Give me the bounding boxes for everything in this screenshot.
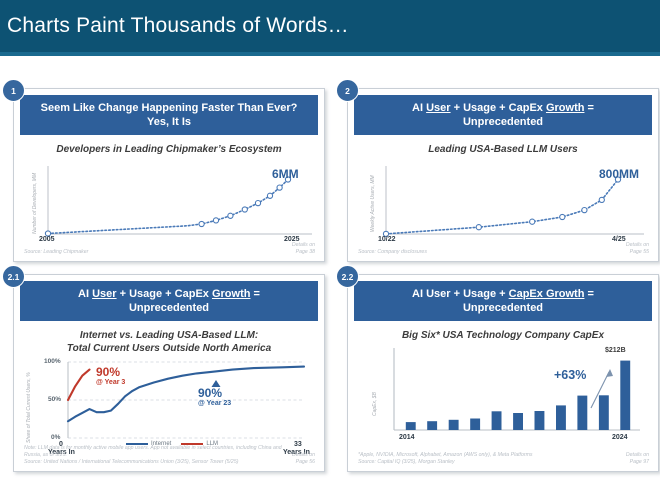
x-tick-end-2-1: 33: [294, 441, 302, 448]
x-tick-end-2: 4/25: [612, 236, 626, 243]
card-source-2: Source: Company disclosures: [358, 249, 427, 256]
chart-area-2: Weekly Active Users, MM 10/22 4/25 800MM: [356, 158, 650, 250]
x-tick-start-2: 10/22: [378, 236, 396, 243]
slide-card-2-2[interactable]: 2.2 AI User + Usage + CapEx Growth =Unpr…: [347, 274, 659, 472]
bar: [513, 413, 523, 430]
chart-area-2-2: CapEx, $B +63% $212B 2014 2024: [356, 344, 650, 452]
y-tick-50-2-1: 50%: [48, 396, 61, 403]
card-badge-2-1: 2.1: [2, 265, 25, 288]
card-source-1: Source: Leading Chipmaker: [24, 249, 88, 256]
bar: [492, 411, 502, 430]
banner-underline: [0, 52, 660, 56]
y-axis-label-2-1: Share of Total Current Users, %: [26, 372, 32, 443]
y-tick-100-2-1: 100%: [44, 358, 61, 365]
y-tick-0-2-1: 0%: [51, 434, 60, 441]
annotation-blue-2-1: 90% @ Year 23: [198, 386, 231, 407]
card-headline-2-1: AI User + Usage + CapEx Growth =Unpreced…: [20, 281, 318, 321]
card-page-note-2-2: Details onPage 97: [626, 452, 649, 466]
bar: [535, 411, 545, 430]
data-point: [242, 207, 247, 212]
card-badge-2-2: 2.2: [336, 265, 359, 288]
data-point: [267, 193, 272, 198]
bar: [449, 420, 459, 430]
data-point: [277, 185, 282, 190]
bar: [470, 419, 480, 431]
annotation-red-2-1: 90% @ Year 3: [96, 365, 125, 386]
data-point: [582, 208, 587, 213]
y-axis-label-2: Weekly Active Users, MM: [370, 175, 376, 232]
x-tick-start-1: 2005: [39, 236, 55, 243]
chart-area-1: Number of Developers, MM 2005 2025 6MM: [22, 158, 316, 250]
card-headline-2-2: AI User + Usage + CapEx Growth =Unpreced…: [354, 281, 652, 321]
data-point: [213, 218, 218, 223]
page-title: Charts Paint Thousands of Words…: [0, 14, 349, 38]
data-point: [599, 197, 604, 202]
callout-value-2: 800MM: [599, 167, 639, 181]
chart-area-2-1: Share of Total Current Users, % 100% 50%…: [22, 357, 316, 457]
card-footnote-2-2: *Apple, NVIDIA, Microsoft, Alphabet, Ama…: [358, 452, 533, 466]
chart-subtitle-2-1: Internet vs. Leading USA-Based LLM:Total…: [14, 329, 324, 355]
card-source-2-2: Source: Capital IQ (3/25), Morgan Stanle…: [358, 459, 533, 466]
data-point: [199, 221, 204, 226]
card-footnote-2-1: Note: LLM data is for monthly active mob…: [24, 445, 282, 466]
bar: [620, 361, 630, 430]
y-axis-label-2-2: CapEx, $B: [372, 392, 378, 416]
annotation-value-2-2: $212B: [605, 347, 626, 354]
page-header-banner: Charts Paint Thousands of Words…: [0, 0, 660, 52]
card-source-2-1: Source: United Nations / International T…: [24, 459, 282, 466]
data-point: [530, 219, 535, 224]
annotation-red-value: 90%: [96, 365, 125, 379]
card-badge-1: 1: [2, 79, 25, 102]
x-tick-end-2-2: 2024: [612, 434, 628, 441]
chart-subtitle-1: Developers in Leading Chipmaker’s Ecosys…: [14, 143, 324, 156]
card-note-2-2: *Apple, NVIDIA, Microsoft, Alphabet, Ama…: [358, 452, 533, 459]
card-page-note-1: Details onPage 38: [292, 242, 315, 256]
annotation-blue-value: 90%: [198, 386, 231, 400]
annotation-growth-2-2: +63%: [554, 368, 586, 382]
card-badge-2: 2: [336, 79, 359, 102]
slide-card-1[interactable]: 1 Seem Like Change Happening Faster Than…: [13, 88, 325, 262]
data-point: [228, 213, 233, 218]
card-note-2-1: Note: LLM data is for monthly active mob…: [24, 445, 282, 459]
card-headline-1: Seem Like Change Happening Faster Than E…: [20, 95, 318, 135]
data-point: [255, 201, 260, 206]
bar: [406, 422, 416, 430]
data-point: [560, 214, 565, 219]
bar: [427, 421, 437, 430]
annotation-blue-note: @ Year 23: [198, 400, 231, 407]
slide-card-2-1[interactable]: 2.1 AI User + Usage + CapEx Growth =Unpr…: [13, 274, 325, 472]
x-tick-end-value-2-1: 33: [294, 441, 302, 448]
callout-value-1: 6MM: [272, 167, 299, 181]
bar: [599, 395, 609, 430]
chart-subtitle-2-2: Big Six* USA Technology Company CapEx: [348, 329, 658, 342]
card-page-note-2: Details onPage 55: [626, 242, 649, 256]
card-headline-2: AI User + Usage + CapEx Growth =Unpreced…: [354, 95, 652, 135]
card-page-note-2-1: Details onPage 56: [292, 452, 315, 466]
y-axis-label-1: Number of Developers, MM: [32, 173, 38, 234]
data-point: [476, 225, 481, 230]
x-tick-start-2-2: 2014: [399, 434, 415, 441]
bar: [556, 405, 566, 430]
slide-card-2[interactable]: 2 AI User + Usage + CapEx Growth =Unprec…: [347, 88, 659, 262]
bar: [577, 396, 587, 430]
chart-subtitle-2: Leading USA-Based LLM Users: [348, 143, 658, 156]
annotation-red-note: @ Year 3: [96, 379, 125, 386]
